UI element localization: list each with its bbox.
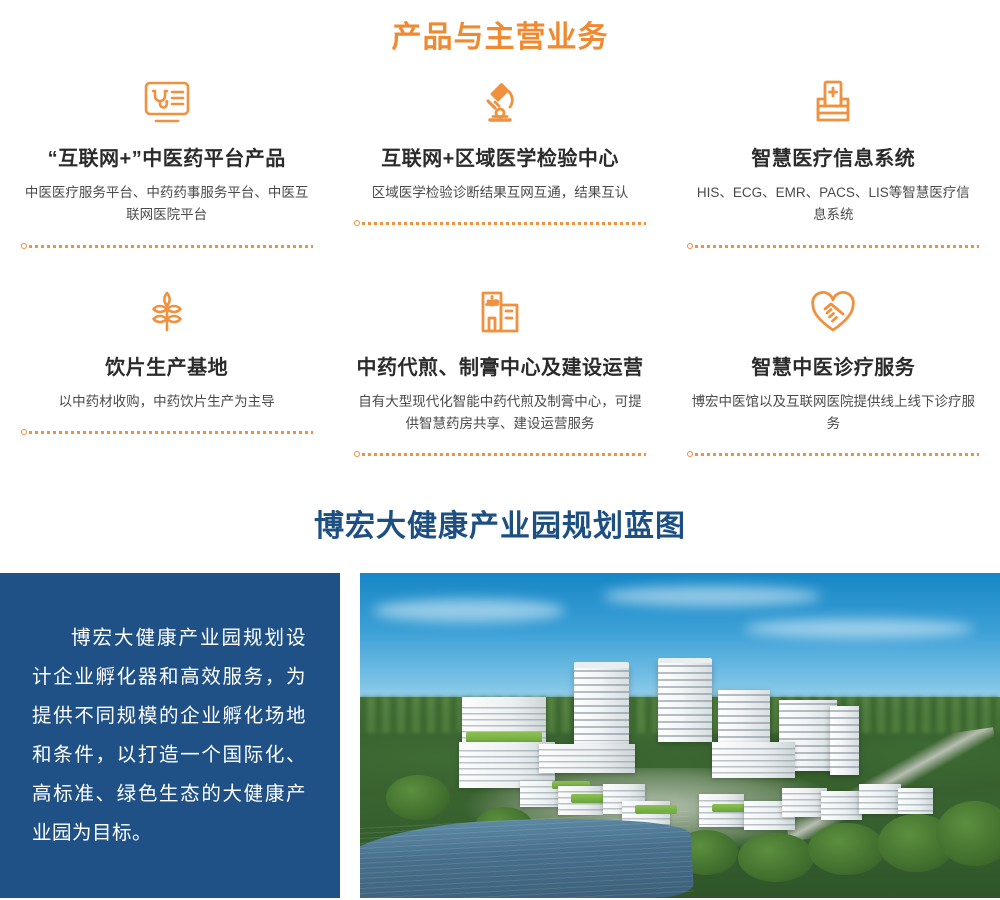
product-card-desc: 博宏中医馆以及互联网医院提供线上线下诊疗服务 [685,391,982,436]
product-card-desc: 自有大型现代化智能中药代煎及制膏中心，可提供智慧药房共享、建设运营服务 [351,391,648,436]
divider-dot-icon [21,243,27,249]
product-card-title: “互联网+”中医药平台产品 [18,146,315,172]
product-card-desc: HIS、ECG、EMR、PACS、LIS等智慧医疗信息系统 [685,182,982,227]
card-divider [354,449,646,459]
product-card[interactable]: 中药代煎、制膏中心及建设运营 自有大型现代化智能中药代煎及制膏中心，可提供智慧药… [333,283,666,460]
card-divider [687,449,979,459]
product-card-title: 饮片生产基地 [18,355,315,381]
wheat-herb-icon [18,283,315,341]
blueprint-section-title: 博宏大健康产业园规划蓝图 [0,509,1000,545]
divider-dash-line [29,431,313,434]
product-cards-row-2: 饮片生产基地 以中药材收购，中药饮片生产为主导 [0,283,1000,460]
product-card[interactable]: 智慧医疗信息系统 HIS、ECG、EMR、PACS、LIS等智慧医疗信息系统 [667,74,1000,251]
decoction-factory-icon [351,283,648,341]
hospital-building-icon [685,74,982,132]
product-card[interactable]: 饮片生产基地 以中药材收购，中药饮片生产为主导 [0,283,333,460]
divider-dot-icon [354,451,360,457]
product-cards-row-1: “互联网+”中医药平台产品 中医医疗服务平台、中药药事服务平台、中医互联网医院平… [0,74,1000,257]
divider-dash-line [29,245,313,248]
page-root: 产品与主营业务 “互联网+”中医药平台产品 中医医疗服务平台、中药药事服务平台、… [0,0,1000,900]
monitor-stethoscope-icon [18,74,315,132]
product-card[interactable]: 智慧中医诊疗服务 博宏中医馆以及互联网医院提供线上线下诊疗服务 [667,283,1000,460]
product-card-title: 智慧医疗信息系统 [685,146,982,172]
divider-dash-line [695,245,979,248]
divider-dot-icon [21,429,27,435]
divider-dot-icon [354,220,360,226]
product-card-title: 智慧中医诊疗服务 [685,355,982,381]
product-card[interactable]: “互联网+”中医药平台产品 中医医疗服务平台、中药药事服务平台、中医互联网医院平… [0,74,333,251]
microscope-icon [351,74,648,132]
card-divider [21,427,313,437]
products-section-title: 产品与主营业务 [0,0,1000,56]
card-divider [21,241,313,251]
product-card-title: 互联网+区域医学检验中心 [351,146,648,172]
card-divider [354,218,646,228]
divider-dot-icon [687,451,693,457]
divider-dash-line [362,453,646,456]
blueprint-paragraph: 博宏大健康产业园规划设计企业孵化器和高效服务，为提供不同规模的企业孵化场地和条件… [0,619,340,853]
divider-dash-line [695,453,979,456]
product-card-title: 中药代煎、制膏中心及建设运营 [351,355,648,381]
product-card-desc: 中医医疗服务平台、中药药事服务平台、中医互联网医院平台 [18,182,315,227]
blueprint-text-panel: 博宏大健康产业园规划设计企业孵化器和高效服务，为提供不同规模的企业孵化场地和条件… [0,573,340,898]
card-divider [687,241,979,251]
divider-dot-icon [687,243,693,249]
industrial-park-rendering-image [360,573,1000,898]
divider-dash-line [362,222,646,225]
product-card[interactable]: 互联网+区域医学检验中心 区域医学检验诊断结果互网互通，结果互认 [333,74,666,251]
product-card-desc: 以中药材收购，中药饮片生产为主导 [18,391,315,413]
product-card-desc: 区域医学检验诊断结果互网互通，结果互认 [351,182,648,204]
blueprint-content: 博宏大健康产业园规划设计企业孵化器和高效服务，为提供不同规模的企业孵化场地和条件… [0,573,1000,898]
heart-handshake-icon [685,283,982,341]
